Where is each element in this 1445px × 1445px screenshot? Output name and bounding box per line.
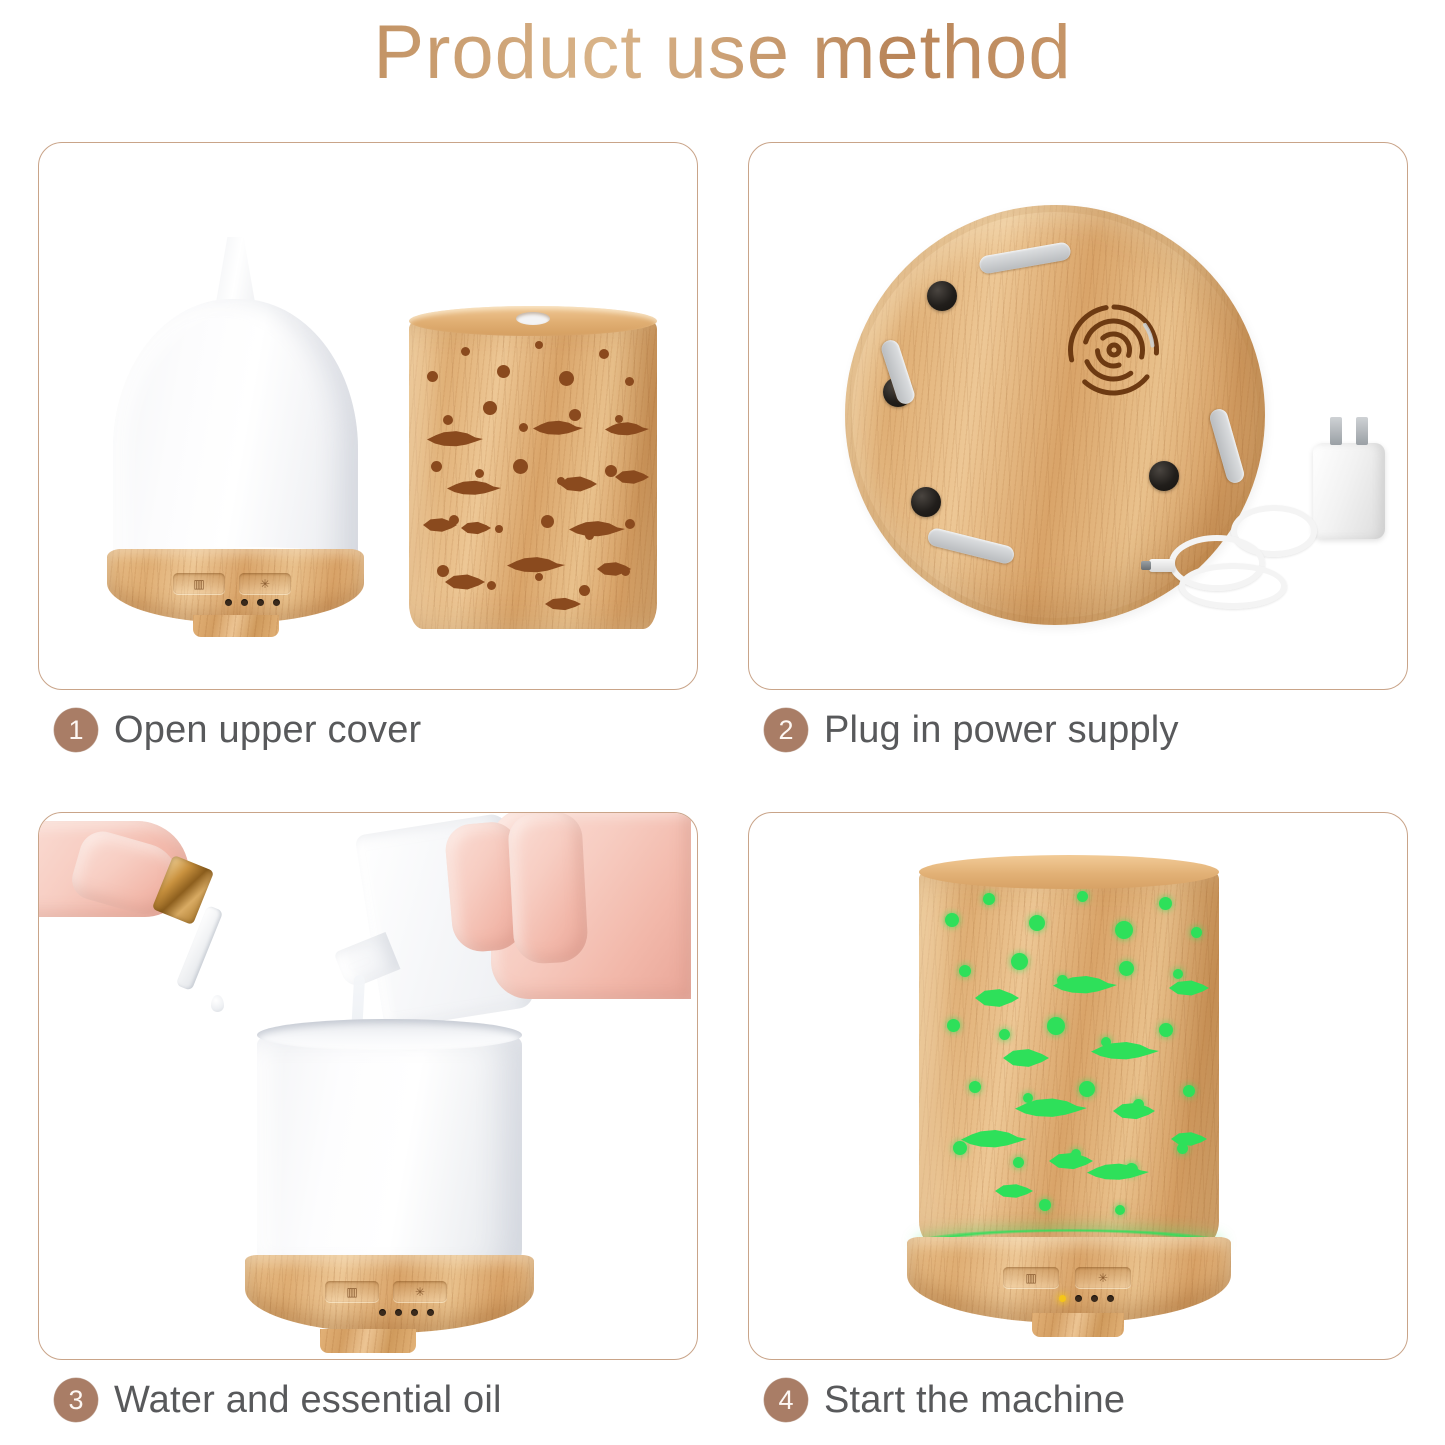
led-4 bbox=[273, 599, 280, 606]
light-icon: ✳ bbox=[1098, 1272, 1108, 1284]
step-4-label: Start the machine bbox=[824, 1379, 1125, 1422]
light-button[interactable]: ✳ bbox=[239, 573, 291, 594]
wood-base: ▥ ✳ bbox=[107, 549, 364, 623]
wood-cylinder-cover bbox=[409, 319, 657, 629]
led-4 bbox=[427, 1309, 434, 1316]
step-4-cell: ▥ ✳ 4 Start the machine bbox=[748, 812, 1408, 1432]
water-tank bbox=[257, 1035, 522, 1275]
cylinder-body bbox=[409, 319, 657, 629]
slot-vent-4 bbox=[1208, 407, 1246, 485]
led-3 bbox=[257, 599, 264, 606]
step-2-label: Plug in power supply bbox=[824, 709, 1179, 752]
tank-wood-base: ▥ ✳ bbox=[245, 1255, 534, 1333]
step-1-label: Open upper cover bbox=[114, 709, 421, 752]
diffuser-body bbox=[919, 869, 1219, 1245]
cylinder-mist-outlet bbox=[516, 312, 550, 325]
diffuser-base-foot bbox=[1032, 1313, 1124, 1337]
rubber-foot-4 bbox=[1149, 461, 1179, 491]
slot-vent-1 bbox=[978, 241, 1072, 275]
step-1-image: ▥ ✳ bbox=[38, 142, 698, 690]
spiral-vent-icon bbox=[1059, 295, 1169, 405]
step-3-image: ▥ ✳ bbox=[38, 812, 698, 1360]
step-1-cell: ▥ ✳ bbox=[38, 142, 698, 762]
rubber-foot-1 bbox=[927, 281, 957, 311]
steps-grid: ▥ ✳ bbox=[38, 142, 1408, 1432]
led-2 bbox=[1075, 1295, 1082, 1302]
plug-prong-left bbox=[1330, 417, 1342, 445]
led-indicator-group bbox=[225, 599, 280, 606]
step-3-label: Water and essential oil bbox=[114, 1379, 502, 1422]
mist-button[interactable]: ▥ bbox=[1003, 1267, 1059, 1288]
tank-base-foot bbox=[320, 1329, 416, 1353]
led-1 bbox=[379, 1309, 386, 1316]
diffuser-wood-base: ▥ ✳ bbox=[907, 1237, 1231, 1323]
step-1-caption: 1 Open upper cover bbox=[54, 698, 421, 762]
step-2-number: 2 bbox=[764, 708, 808, 752]
step-3-number: 3 bbox=[54, 1378, 98, 1422]
mist-button[interactable]: ▥ bbox=[325, 1281, 379, 1302]
infographic-page: Product use method ▥ ✳ bbox=[0, 0, 1445, 1445]
step-4-image: ▥ ✳ bbox=[748, 812, 1408, 1360]
led-indicator-group bbox=[379, 1309, 434, 1316]
step-3-caption: 3 Water and essential oil bbox=[54, 1368, 502, 1432]
power-cable-loop-3 bbox=[1179, 563, 1287, 609]
led-indicator-group bbox=[1059, 1295, 1114, 1302]
mist-icon: ▥ bbox=[346, 1286, 357, 1298]
step-3-cell: ▥ ✳ 3 Water and essential oil bbox=[38, 812, 698, 1432]
base-foot bbox=[193, 615, 279, 637]
rubber-foot-3 bbox=[911, 487, 941, 517]
upper-cover-assembly: ▥ ✳ bbox=[113, 237, 358, 637]
assembled-diffuser bbox=[919, 869, 1219, 1245]
step-2-caption: 2 Plug in power supply bbox=[764, 698, 1179, 762]
led-4 bbox=[1107, 1295, 1114, 1302]
mist-icon: ▥ bbox=[1025, 1272, 1036, 1284]
oil-drop bbox=[211, 995, 224, 1012]
light-button[interactable]: ✳ bbox=[1075, 1267, 1131, 1288]
plug-prong-right bbox=[1356, 417, 1368, 445]
power-adapter bbox=[1313, 443, 1385, 539]
finger-2 bbox=[507, 812, 589, 965]
slot-vent-3 bbox=[926, 527, 1016, 566]
water-tank-opening bbox=[257, 1019, 522, 1051]
led-1-active bbox=[1059, 1295, 1066, 1302]
led-1 bbox=[225, 599, 232, 606]
mist-button[interactable]: ▥ bbox=[173, 573, 225, 594]
step-1-number: 1 bbox=[54, 708, 98, 752]
step-2-cell: 2 Plug in power supply bbox=[748, 142, 1408, 762]
dc-barrel-plug bbox=[1149, 559, 1175, 572]
step-4-caption: 4 Start the machine bbox=[764, 1368, 1125, 1432]
diffuser-top-rim bbox=[919, 855, 1219, 889]
mist-icon: ▥ bbox=[193, 578, 204, 590]
led-2 bbox=[395, 1309, 402, 1316]
page-title: Product use method bbox=[0, 8, 1445, 98]
light-icon: ✳ bbox=[415, 1286, 425, 1298]
light-button[interactable]: ✳ bbox=[393, 1281, 447, 1302]
led-2 bbox=[241, 599, 248, 606]
step-2-image bbox=[748, 142, 1408, 690]
step-4-number: 4 bbox=[764, 1378, 808, 1422]
led-3 bbox=[411, 1309, 418, 1316]
light-icon: ✳ bbox=[260, 578, 270, 590]
led-3 bbox=[1091, 1295, 1098, 1302]
